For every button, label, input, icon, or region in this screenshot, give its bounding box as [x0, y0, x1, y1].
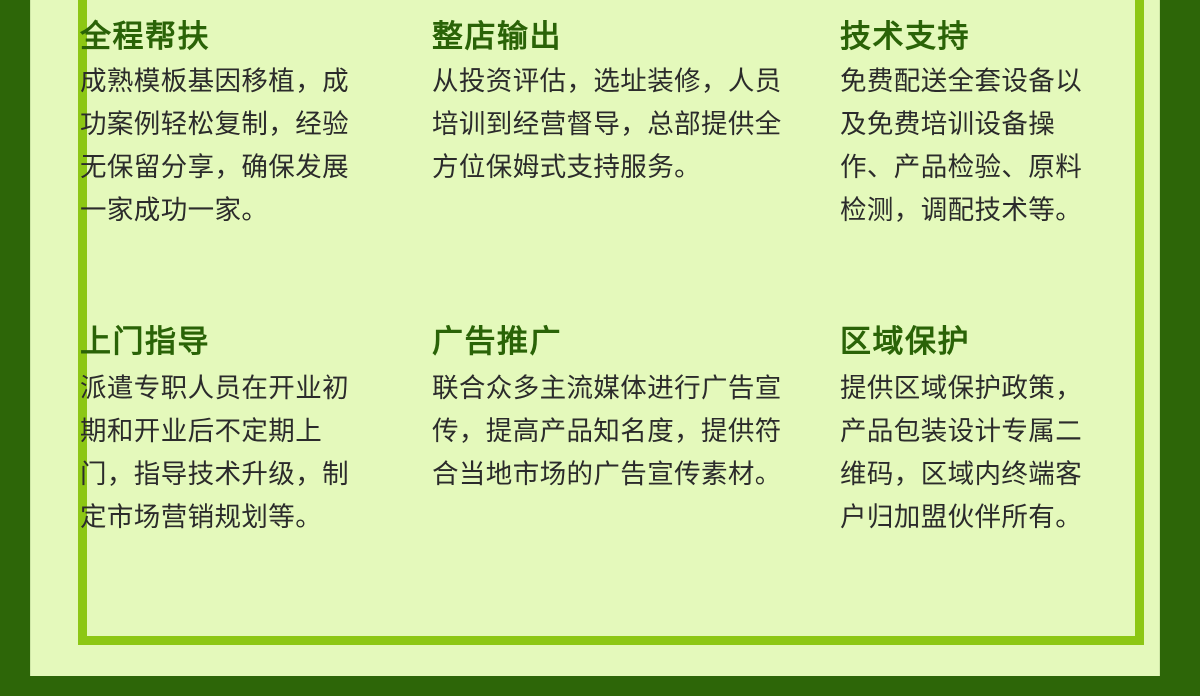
support-card-qu-yu-bao-hu: 区域保护 提供区域保护政策，产品包装设计专属二维码，区域内终端客户归加盟伙伴所有… [840, 323, 1140, 628]
support-card-title: 广告推广 [432, 323, 826, 362]
support-card-quan-cheng-bang-fu: 全程帮扶 成熟模板基因移植，成功案例轻松复制，经验无保留分享，确保发展一家成功一… [80, 18, 432, 323]
support-card-title: 整店输出 [432, 18, 826, 57]
support-card-body: 提供区域保护政策，产品包装设计专属二维码，区域内终端客户归加盟伙伴所有。 [840, 368, 1108, 540]
support-card-title: 区域保护 [840, 323, 1126, 362]
support-card-zheng-dian-shu-chu: 整店输出 从投资评估，选址装修，人员培训到经营督导，总部提供全方位保姆式支持服务… [432, 18, 840, 323]
support-card-shang-men-zhi-dao: 上门指导 派遣专职人员在开业初期和开业后不定期上门，指导技术升级，制定市场营销规… [80, 323, 432, 628]
support-card-body: 从投资评估，选址装修，人员培训到经营督导，总部提供全方位保姆式支持服务。 [432, 61, 784, 190]
support-card-body: 联合众多主流媒体进行广告宣传，提高产品知名度，提供符合当地市场的广告宣传素材。 [432, 368, 784, 497]
panel-hairline-left [30, 0, 31, 676]
franchise-support-poster: 全程帮扶 成熟模板基因移植，成功案例轻松复制，经验无保留分享，确保发展一家成功一… [0, 0, 1200, 696]
support-card-body: 派遣专职人员在开业初期和开业后不定期上门，指导技术升级，制定市场营销规划等。 [80, 368, 375, 540]
panel-hairline-right [1159, 0, 1160, 676]
support-card-body: 成熟模板基因移植，成功案例轻松复制，经验无保留分享，确保发展一家成功一家。 [80, 61, 375, 233]
support-card-body: 免费配送全套设备以及免费培训设备操作、产品检验、原料检测，调配技术等。 [840, 61, 1108, 233]
support-card-ji-shu-zhi-chi: 技术支持 免费配送全套设备以及免费培训设备操作、产品检验、原料检测，调配技术等。 [840, 18, 1140, 323]
support-card-title: 上门指导 [80, 323, 418, 362]
support-cards-grid: 全程帮扶 成熟模板基因移植，成功案例轻松复制，经验无保留分享，确保发展一家成功一… [80, 18, 1140, 628]
support-card-guang-gao-tui-guang: 广告推广 联合众多主流媒体进行广告宣传，提高产品知名度，提供符合当地市场的广告宣… [432, 323, 840, 628]
support-card-title: 技术支持 [840, 18, 1126, 57]
support-card-title: 全程帮扶 [80, 18, 418, 57]
